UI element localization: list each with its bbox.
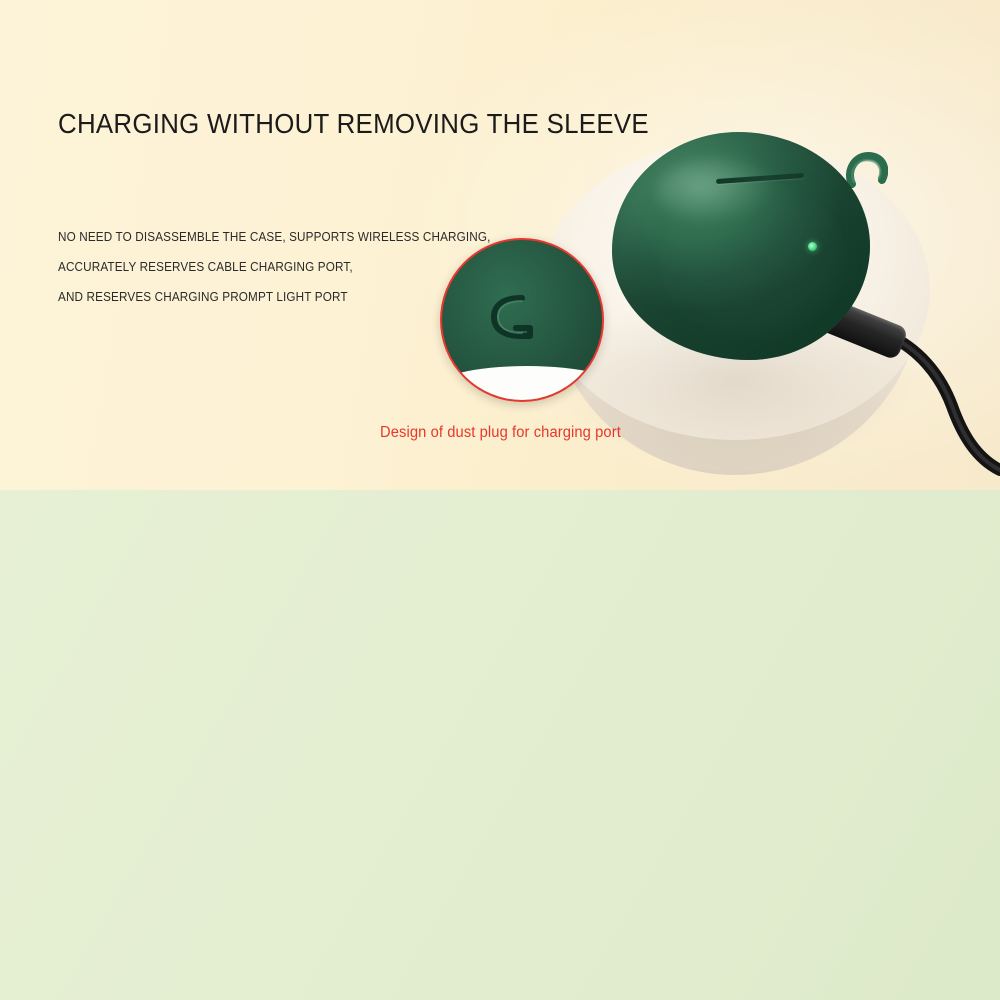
dust-plug-caption: Design of dust plug for charging port bbox=[380, 424, 621, 442]
top-panel-description: NO NEED TO DISASSEMBLE THE CASE, SUPPORT… bbox=[58, 222, 491, 312]
top-description-line-3: AND RESERVES CHARGING PROMPT LIGHT PORT bbox=[58, 282, 491, 312]
dust-plug-shape-icon bbox=[486, 292, 548, 342]
product-marketing-image: CHARGING WITHOUT REMOVING THE SLEEVE NO … bbox=[0, 0, 1000, 1000]
top-panel-title: CHARGING WITHOUT REMOVING THE SLEEVE bbox=[58, 108, 649, 140]
top-description-line-1: NO NEED TO DISASSEMBLE THE CASE, SUPPORT… bbox=[58, 222, 491, 252]
bottom-panel: SUPPORT WIRELESS CHARGING PUT IT DOWN AN… bbox=[0, 490, 1000, 1000]
green-case-led-indicator bbox=[808, 242, 817, 251]
green-case-highlight bbox=[656, 158, 776, 224]
top-description-line-2: ACCURATELY RESERVES CABLE CHARGING PORT, bbox=[58, 252, 491, 282]
green-earbud-case bbox=[612, 132, 884, 364]
top-panel: CHARGING WITHOUT REMOVING THE SLEEVE NO … bbox=[0, 0, 1000, 490]
zoom-callout-base bbox=[440, 366, 604, 402]
